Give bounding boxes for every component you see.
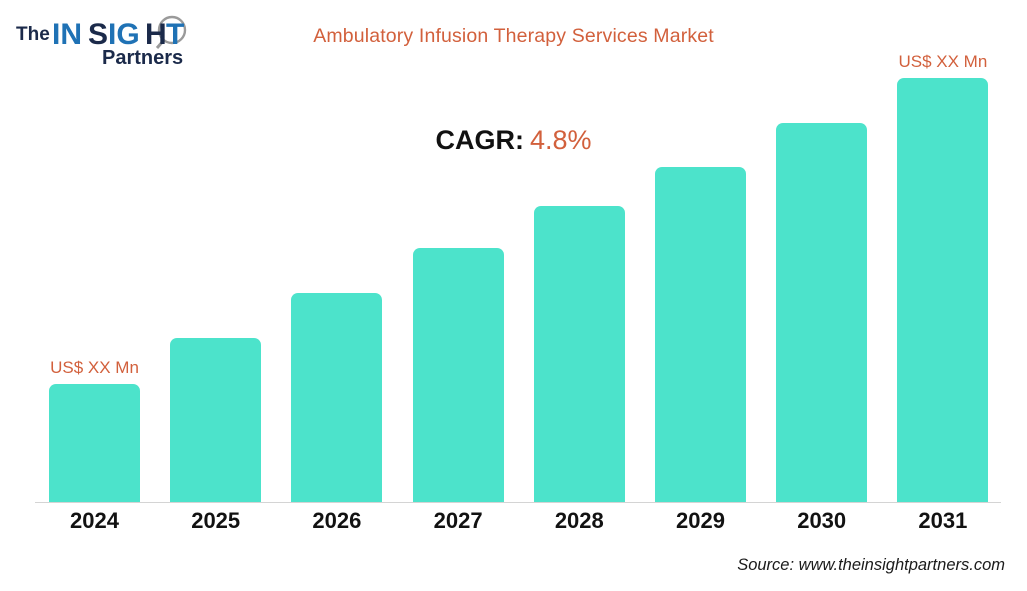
- bar-2028: [534, 206, 625, 502]
- plot-area: US$ XX MnUS$ XX Mn: [35, 60, 1000, 502]
- source-note: Source: www.theinsightpartners.com: [737, 556, 1005, 575]
- bar-2031: [897, 78, 988, 502]
- x-tick-label-2030: 2030: [776, 508, 867, 534]
- x-tick-label-2027: 2027: [413, 508, 504, 534]
- bar-2029: [655, 167, 746, 502]
- chart-page: The IN S IG H T Partners Ambulatory Infu…: [0, 0, 1027, 591]
- x-tick-label-2024: 2024: [49, 508, 140, 534]
- x-axis-line: [35, 502, 1001, 503]
- bar-2030: [776, 123, 867, 502]
- x-tick-label-2029: 2029: [655, 508, 746, 534]
- x-tick-label-2031: 2031: [897, 508, 988, 534]
- x-tick-label-2026: 2026: [291, 508, 382, 534]
- x-tick-label-2028: 2028: [534, 508, 625, 534]
- x-tick-label-2025: 2025: [170, 508, 261, 534]
- chart-title: Ambulatory Infusion Therapy Services Mar…: [0, 25, 1027, 48]
- bar-2027: [413, 248, 504, 502]
- bar-2026: [291, 293, 382, 502]
- bar-value-label-2024: US$ XX Mn: [50, 358, 139, 378]
- bar-value-label-2031: US$ XX Mn: [898, 52, 987, 72]
- bar-2024: [49, 384, 140, 502]
- x-axis-labels: 20242025202620272028202920302031: [35, 508, 1000, 542]
- bar-2025: [170, 338, 261, 502]
